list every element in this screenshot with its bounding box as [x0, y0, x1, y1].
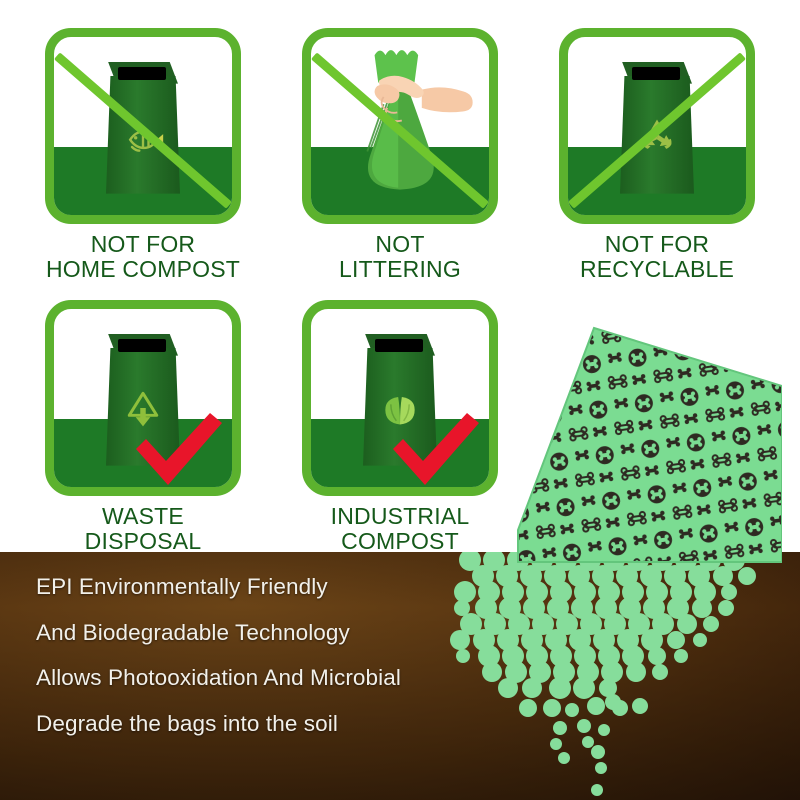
bin-slot	[118, 339, 166, 352]
icon-label-line-1: NOT	[375, 231, 424, 257]
soil-section: EPI Environmentally Friendly And Biodegr…	[0, 552, 800, 800]
icon-panel: NOT FOR HOME COMPOST	[0, 0, 800, 552]
icon-label: WASTE DISPOSAL	[32, 504, 254, 554]
marketing-copy: EPI Environmentally Friendly And Biodegr…	[36, 576, 466, 758]
icon-frame	[302, 300, 498, 496]
bin-slot	[118, 67, 166, 80]
check-mark-icon	[387, 409, 483, 489]
icon-card-industrial-compost[interactable]: INDUSTRIAL COMPOST	[289, 300, 511, 554]
icon-label: INDUSTRIAL COMPOST	[289, 504, 511, 554]
check-mark-icon	[130, 409, 226, 489]
icon-card-not-littering[interactable]: NOT LITTERING	[289, 28, 511, 282]
icon-label: NOT FOR RECYCLABLE	[546, 232, 768, 282]
icon-frame	[45, 28, 241, 224]
bin-slot	[375, 339, 423, 352]
copy-line-2: And Biodegradable Technology	[36, 622, 466, 645]
icon-label-line-1: INDUSTRIAL	[331, 503, 470, 529]
icon-card-not-for-recyclable[interactable]: NOT FOR RECYCLABLE	[546, 28, 768, 282]
icon-frame	[45, 300, 241, 496]
icon-label-line-2: HOME COMPOST	[32, 257, 254, 282]
product-bag-image	[482, 322, 782, 582]
copy-line-1: EPI Environmentally Friendly	[36, 576, 466, 599]
icon-label: NOT FOR HOME COMPOST	[32, 232, 254, 282]
icon-label-line-2: COMPOST	[289, 529, 511, 554]
icon-label-line-2: DISPOSAL	[32, 529, 254, 554]
icon-label-line-1: WASTE	[102, 503, 184, 529]
icon-card-waste-disposal[interactable]: WASTE DISPOSAL	[32, 300, 254, 554]
icon-label-line-2: LITTERING	[289, 257, 511, 282]
bin-slot	[632, 67, 680, 80]
copy-line-4: Degrade the bags into the soil	[36, 713, 466, 736]
icon-label-line-1: NOT FOR	[91, 231, 195, 257]
infographic-root: NOT FOR HOME COMPOST	[0, 0, 800, 800]
icon-label: NOT LITTERING	[289, 232, 511, 282]
icon-frame	[302, 28, 498, 224]
icon-card-not-for-home-compost[interactable]: NOT FOR HOME COMPOST	[32, 28, 254, 282]
icon-label-line-1: NOT FOR	[605, 231, 709, 257]
copy-line-3: Allows Photooxidation And Microbial	[36, 667, 466, 690]
icon-frame	[559, 28, 755, 224]
icon-label-line-2: RECYCLABLE	[546, 257, 768, 282]
